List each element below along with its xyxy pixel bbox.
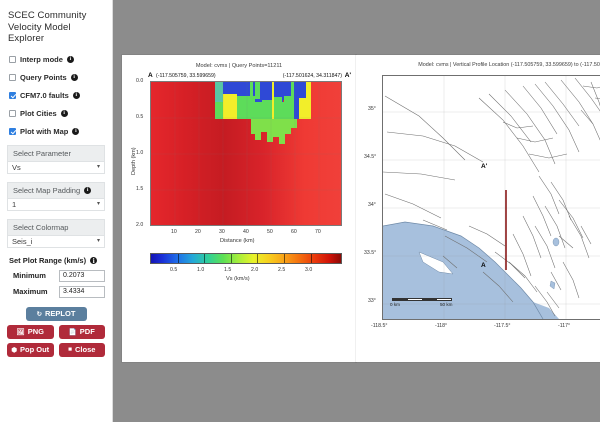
pdf-button[interactable]: 📄 PDF bbox=[59, 325, 106, 339]
map-x-tick-label: -117.5° bbox=[494, 323, 510, 329]
map-y-tick-label: 34° bbox=[368, 202, 376, 208]
x-tick-label: 30 bbox=[219, 229, 225, 235]
map-x-tick-label: -118.5° bbox=[371, 323, 387, 329]
map-scale-bar bbox=[392, 298, 452, 301]
map-title: Model: cvms | Vertical Profile Location … bbox=[356, 62, 600, 68]
field-select-map-padding: Select Map Padding i 1 ▾ bbox=[7, 182, 105, 211]
checkbox-row-plot-with-map[interactable]: Plot with Map i bbox=[9, 127, 105, 137]
map-y-tick-label: 34.5° bbox=[364, 154, 376, 160]
main-canvas: Model: cvms | Query Points=11211 A (-117… bbox=[113, 0, 600, 422]
y-tick-label: 0.0 bbox=[136, 78, 143, 84]
y-tick-label: 2.0 bbox=[136, 222, 143, 228]
app-title-line2: Velocity Model Explorer bbox=[8, 22, 105, 45]
checkbox-row-plot-cities[interactable]: Plot Cities i bbox=[9, 109, 105, 119]
x-tick-label: 10 bbox=[171, 229, 177, 235]
select-map-padding-header: Select Map Padding i bbox=[7, 182, 105, 198]
map-scale-left-label: 0 km bbox=[390, 302, 400, 307]
x-tick-label: 20 bbox=[195, 229, 201, 235]
colorbar-label: Vs (km/s) bbox=[226, 276, 250, 282]
map-x-tick-label: -117° bbox=[558, 323, 570, 329]
x-tick-label: 40 bbox=[243, 229, 249, 235]
velocity-heatmap bbox=[151, 82, 342, 226]
maximum-label: Maximum bbox=[7, 287, 55, 296]
y-tick-label: 1.5 bbox=[136, 186, 143, 192]
y-axis-label: Depth (km) bbox=[131, 147, 137, 175]
maximum-input[interactable]: 3.4334 bbox=[59, 286, 105, 298]
map-panel: Model: cvms | Vertical Profile Location … bbox=[356, 55, 600, 362]
checkbox-row-query-points[interactable]: Query Points i bbox=[9, 73, 105, 83]
colorbar-tick-label: 2.0 bbox=[251, 267, 258, 273]
map-x-tick-label: -118° bbox=[435, 323, 447, 329]
application-window: SCEC Community Velocity Model Explorer I… bbox=[0, 0, 600, 422]
x-tick-label: 70 bbox=[315, 229, 321, 235]
checkbox-row-interp-mode[interactable]: Interp mode i bbox=[9, 55, 105, 65]
checkbox-cfm-faults[interactable] bbox=[9, 92, 16, 99]
info-icon[interactable]: i bbox=[71, 74, 78, 81]
colorbar-tick-label: 0.5 bbox=[170, 267, 177, 273]
colorbar bbox=[150, 253, 342, 264]
colorbar-tick-label: 1.0 bbox=[197, 267, 204, 273]
map-y-tick-label: 35° bbox=[368, 106, 376, 112]
map-y-tick-label: 33° bbox=[368, 298, 376, 304]
select-parameter[interactable]: Vs ▾ bbox=[7, 161, 105, 174]
select-colormap-header: Select Colormap bbox=[7, 219, 105, 235]
cross-section-plot[interactable] bbox=[150, 81, 342, 226]
select-parameter-header: Select Parameter bbox=[7, 145, 105, 161]
pdf-button-label: PDF bbox=[80, 327, 95, 336]
minimum-label: Minimum bbox=[7, 271, 55, 280]
sidebar: SCEC Community Velocity Model Explorer I… bbox=[0, 0, 113, 422]
document-icon: 📄 bbox=[69, 328, 77, 336]
checkbox-label-plot-with-map: Plot with Map bbox=[20, 127, 68, 136]
y-tick-label: 1.0 bbox=[136, 150, 143, 156]
y-tick-label: 0.5 bbox=[136, 114, 143, 120]
map-marker-a: A bbox=[481, 262, 486, 269]
checkbox-plot-with-map[interactable] bbox=[9, 128, 16, 135]
select-colormap-value: Seis_i bbox=[12, 237, 32, 246]
chevron-down-icon: ▾ bbox=[97, 164, 100, 170]
map-marker-a-prime: A' bbox=[481, 163, 487, 170]
checkbox-label-plot-cities: Plot Cities bbox=[20, 109, 57, 118]
info-icon[interactable]: i bbox=[90, 257, 97, 264]
cross-section-marker-a-prime: A' bbox=[345, 72, 351, 79]
page-title: SCEC Community Velocity Model Explorer bbox=[8, 10, 105, 45]
cross-section-left-endpoint: (-117.505759, 33.599659) bbox=[156, 73, 216, 79]
colorbar-tick-label: 2.5 bbox=[278, 267, 285, 273]
chevron-down-icon: ▾ bbox=[97, 238, 100, 244]
image-icon: 🖼 bbox=[16, 328, 24, 336]
close-icon: ■ bbox=[68, 346, 72, 353]
location-map[interactable] bbox=[382, 75, 600, 320]
map-scale-right-label: 50 km bbox=[440, 302, 453, 307]
checkbox-query-points[interactable] bbox=[9, 74, 16, 81]
colorbar-tick-label: 1.5 bbox=[224, 267, 231, 273]
field-select-parameter: Select Parameter Vs ▾ bbox=[7, 145, 105, 174]
plot-range-header: Set Plot Range (km/s) i bbox=[9, 256, 105, 265]
range-row-maximum: Maximum 3.4334 bbox=[7, 286, 105, 298]
png-button[interactable]: 🖼 PNG bbox=[7, 325, 54, 339]
refresh-icon: ↻ bbox=[37, 310, 42, 318]
cross-section-panel: Model: cvms | Query Points=11211 A (-117… bbox=[122, 55, 356, 362]
range-row-minimum: Minimum 0.2073 bbox=[7, 270, 105, 282]
info-icon[interactable]: i bbox=[73, 92, 80, 99]
export-button-row: 🖼 PNG 📄 PDF bbox=[7, 325, 105, 339]
cross-section-right-endpoint: (-117.501624, 34.311847) bbox=[283, 73, 342, 79]
replot-button-label: REPLOT bbox=[45, 309, 75, 318]
pop-out-button-label: Pop Out bbox=[20, 345, 49, 354]
close-button[interactable]: ■ Close bbox=[59, 343, 106, 357]
close-button-label: Close bbox=[75, 345, 95, 354]
select-parameter-value: Vs bbox=[12, 163, 21, 172]
external-link-icon: ⬢ bbox=[11, 346, 17, 354]
window-button-row: ⬢ Pop Out ■ Close bbox=[7, 343, 105, 357]
select-map-padding[interactable]: 1 ▾ bbox=[7, 198, 105, 211]
select-colormap[interactable]: Seis_i ▾ bbox=[7, 235, 105, 248]
checkbox-plot-cities[interactable] bbox=[9, 110, 16, 117]
info-icon[interactable]: i bbox=[72, 128, 79, 135]
cross-section-title: Model: cvms | Query Points=11211 bbox=[122, 63, 356, 69]
plot-range-label: Set Plot Range (km/s) bbox=[9, 256, 86, 265]
checkbox-label-interp-mode: Interp mode bbox=[20, 55, 63, 64]
cross-section-marker-a: A bbox=[148, 72, 153, 79]
checkbox-label-query-points: Query Points bbox=[20, 73, 67, 82]
app-title-line1: SCEC Community bbox=[8, 10, 105, 22]
map-graphic bbox=[383, 76, 600, 320]
x-tick-label: 60 bbox=[291, 229, 297, 235]
info-icon[interactable]: i bbox=[67, 56, 74, 63]
x-tick-label: 50 bbox=[267, 229, 273, 235]
map-y-tick-label: 33.5° bbox=[364, 250, 376, 256]
checkbox-label-cfm-faults: CFM7.0 faults bbox=[20, 91, 69, 100]
replot-button[interactable]: ↻ REPLOT bbox=[26, 307, 87, 321]
info-icon[interactable]: i bbox=[84, 187, 91, 194]
field-select-colormap: Select Colormap Seis_i ▾ bbox=[7, 219, 105, 248]
select-map-padding-label: Select Map Padding bbox=[13, 186, 80, 195]
png-button-label: PNG bbox=[28, 327, 44, 336]
checkbox-interp-mode[interactable] bbox=[9, 56, 16, 63]
action-buttons: ↻ REPLOT 🖼 PNG 📄 PDF ⬢ Pop Out bbox=[7, 307, 105, 357]
chevron-down-icon: ▾ bbox=[97, 201, 100, 207]
checkbox-row-cfm-faults[interactable]: CFM7.0 faults i bbox=[9, 91, 105, 101]
colorbar-tick-label: 3.0 bbox=[305, 267, 312, 273]
select-map-padding-value: 1 bbox=[12, 200, 16, 209]
x-axis-label: Distance (km) bbox=[220, 238, 255, 244]
pop-out-button[interactable]: ⬢ Pop Out bbox=[7, 343, 54, 357]
minimum-input[interactable]: 0.2073 bbox=[59, 270, 105, 282]
info-icon[interactable]: i bbox=[61, 110, 68, 117]
